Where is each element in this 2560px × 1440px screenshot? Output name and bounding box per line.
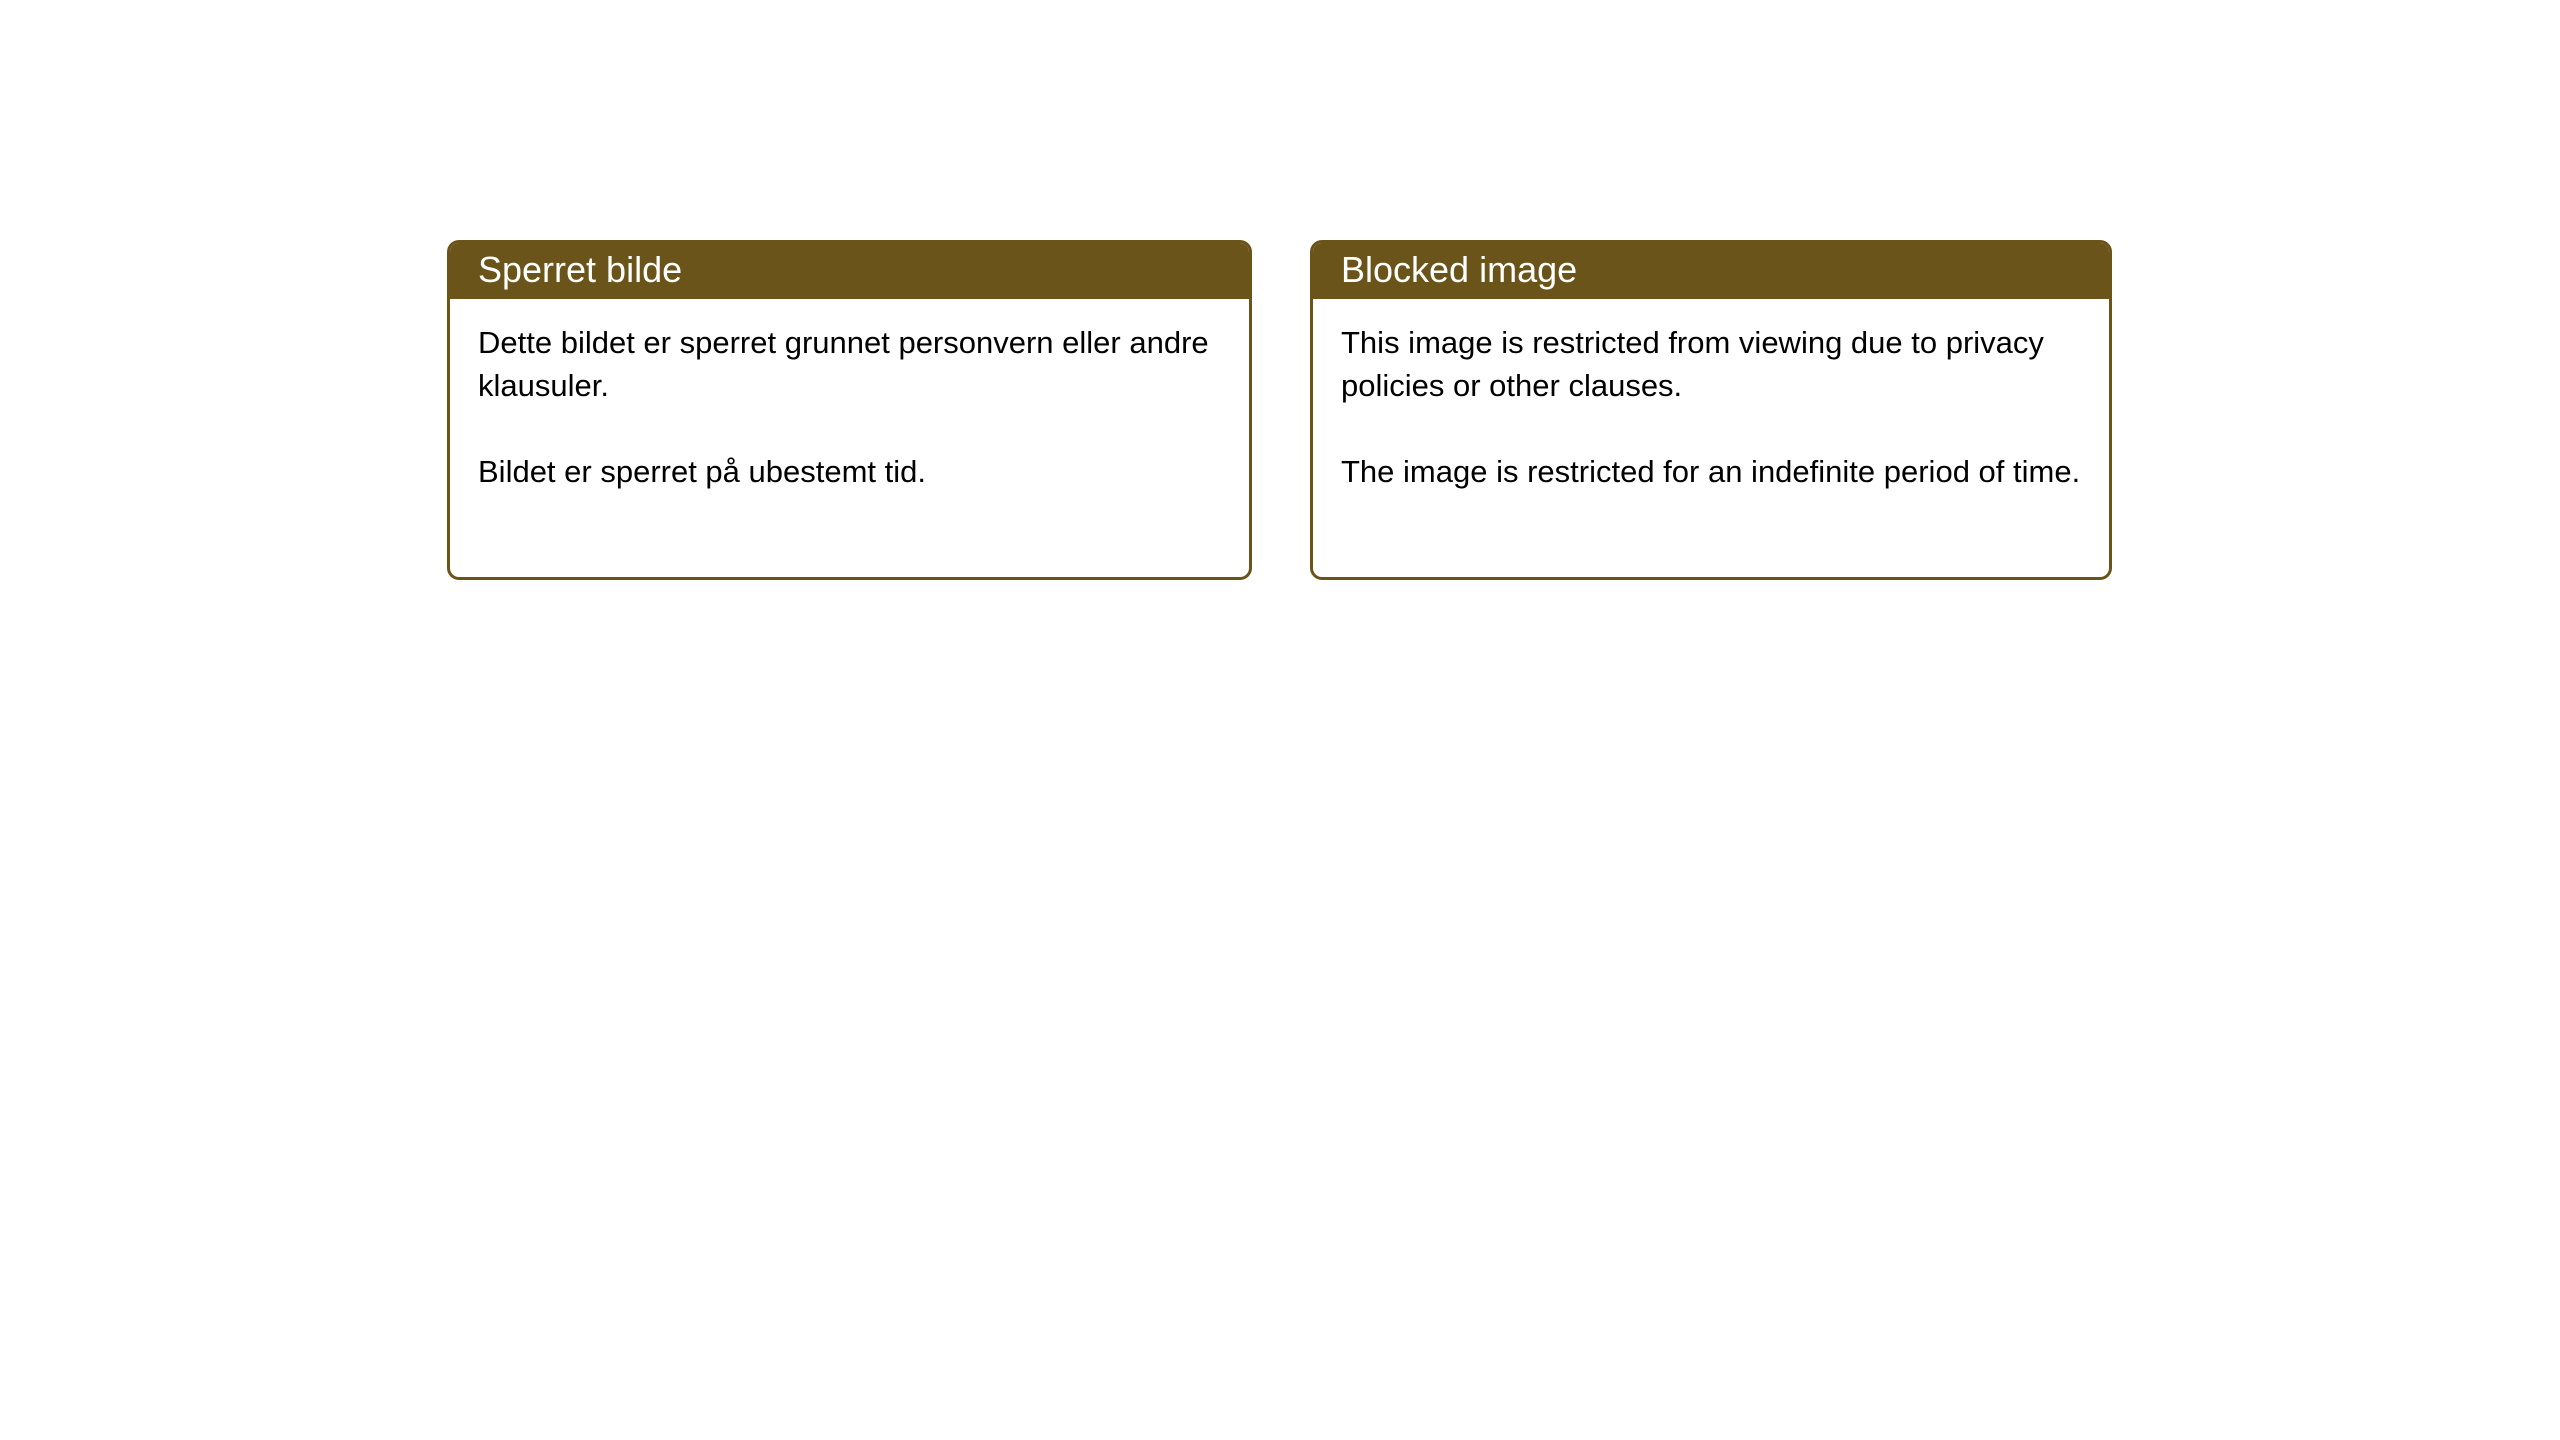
page-canvas: Sperret bilde Dette bildet er sperret gr… — [0, 0, 2560, 1440]
panel-paragraph-primary-english: This image is restricted from viewing du… — [1341, 321, 2083, 407]
panel-body-english: This image is restricted from viewing du… — [1313, 299, 2109, 493]
panel-title-english: Blocked image — [1341, 250, 1577, 290]
panel-title-norwegian: Sperret bilde — [478, 250, 682, 290]
panel-paragraph-secondary-norwegian: Bildet er sperret på ubestemt tid. — [478, 450, 1223, 493]
blocked-image-notice-norwegian: Sperret bilde Dette bildet er sperret gr… — [447, 240, 1252, 580]
panel-header-norwegian: Sperret bilde — [447, 240, 1252, 299]
panel-body-norwegian: Dette bildet er sperret grunnet personve… — [450, 299, 1249, 493]
panel-paragraph-primary-norwegian: Dette bildet er sperret grunnet personve… — [478, 321, 1223, 407]
panel-paragraph-secondary-english: The image is restricted for an indefinit… — [1341, 450, 2083, 493]
blocked-image-notice-english: Blocked image This image is restricted f… — [1310, 240, 2112, 580]
panel-header-english: Blocked image — [1310, 240, 2112, 299]
